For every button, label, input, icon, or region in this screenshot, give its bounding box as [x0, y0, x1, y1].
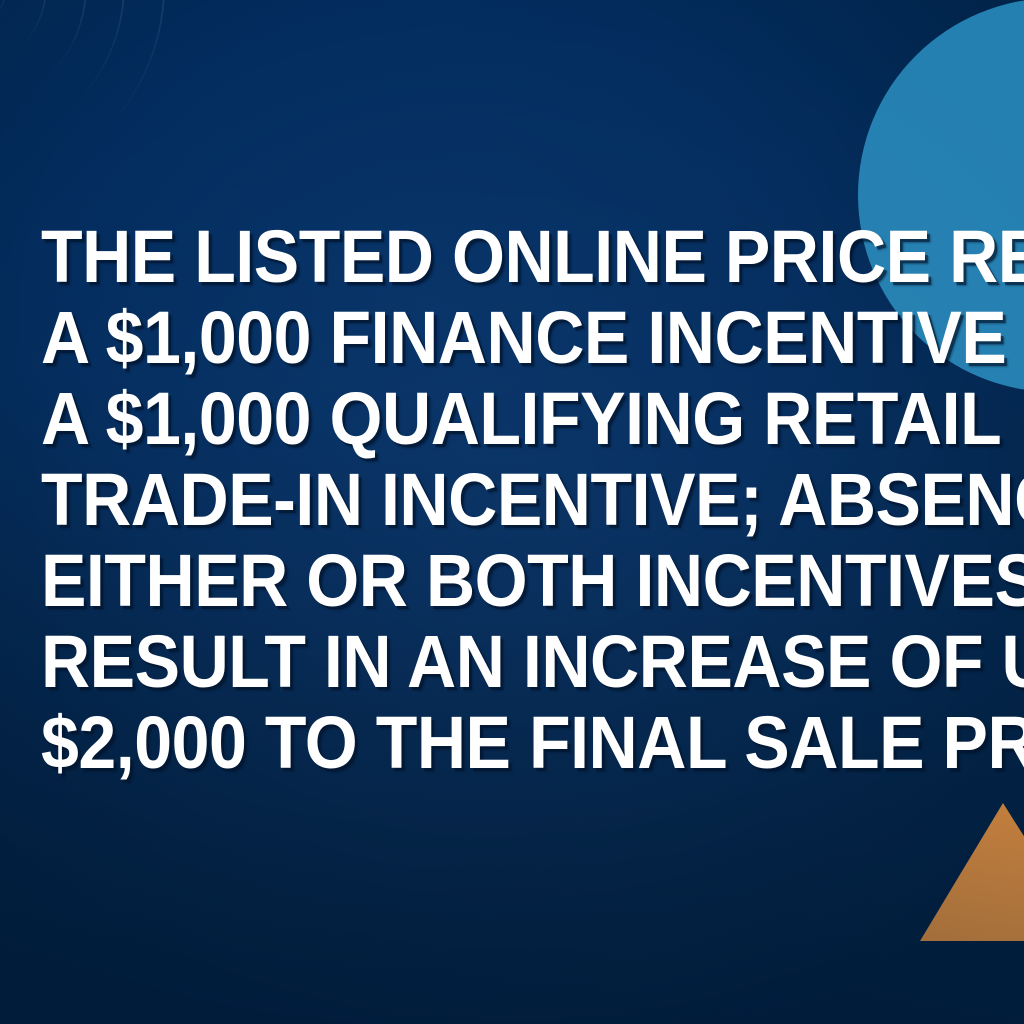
- disclaimer-line: RESULT IN AN INCREASE OF UP TO: [41, 621, 983, 702]
- disclaimer-line: THE LISTED ONLINE PRICE REFLECTS: [41, 216, 983, 297]
- disclaimer-line: $2,000 TO THE FINAL SALE PRICE.: [41, 702, 983, 783]
- disclaimer-line: A $1,000 QUALIFYING RETAIL: [41, 378, 983, 459]
- disclaimer-line: EITHER OR BOTH INCENTIVES WILL: [41, 540, 983, 621]
- disclaimer-line: TRADE-IN INCENTIVE; ABSENCE OF: [41, 459, 983, 540]
- promo-graphic-canvas: THE LISTED ONLINE PRICE REFLECTS A $1,00…: [0, 0, 1024, 1024]
- disclaimer-line: A $1,000 FINANCE INCENTIVE AND: [41, 297, 983, 378]
- disclaimer-text-block: THE LISTED ONLINE PRICE REFLECTS A $1,00…: [41, 216, 983, 783]
